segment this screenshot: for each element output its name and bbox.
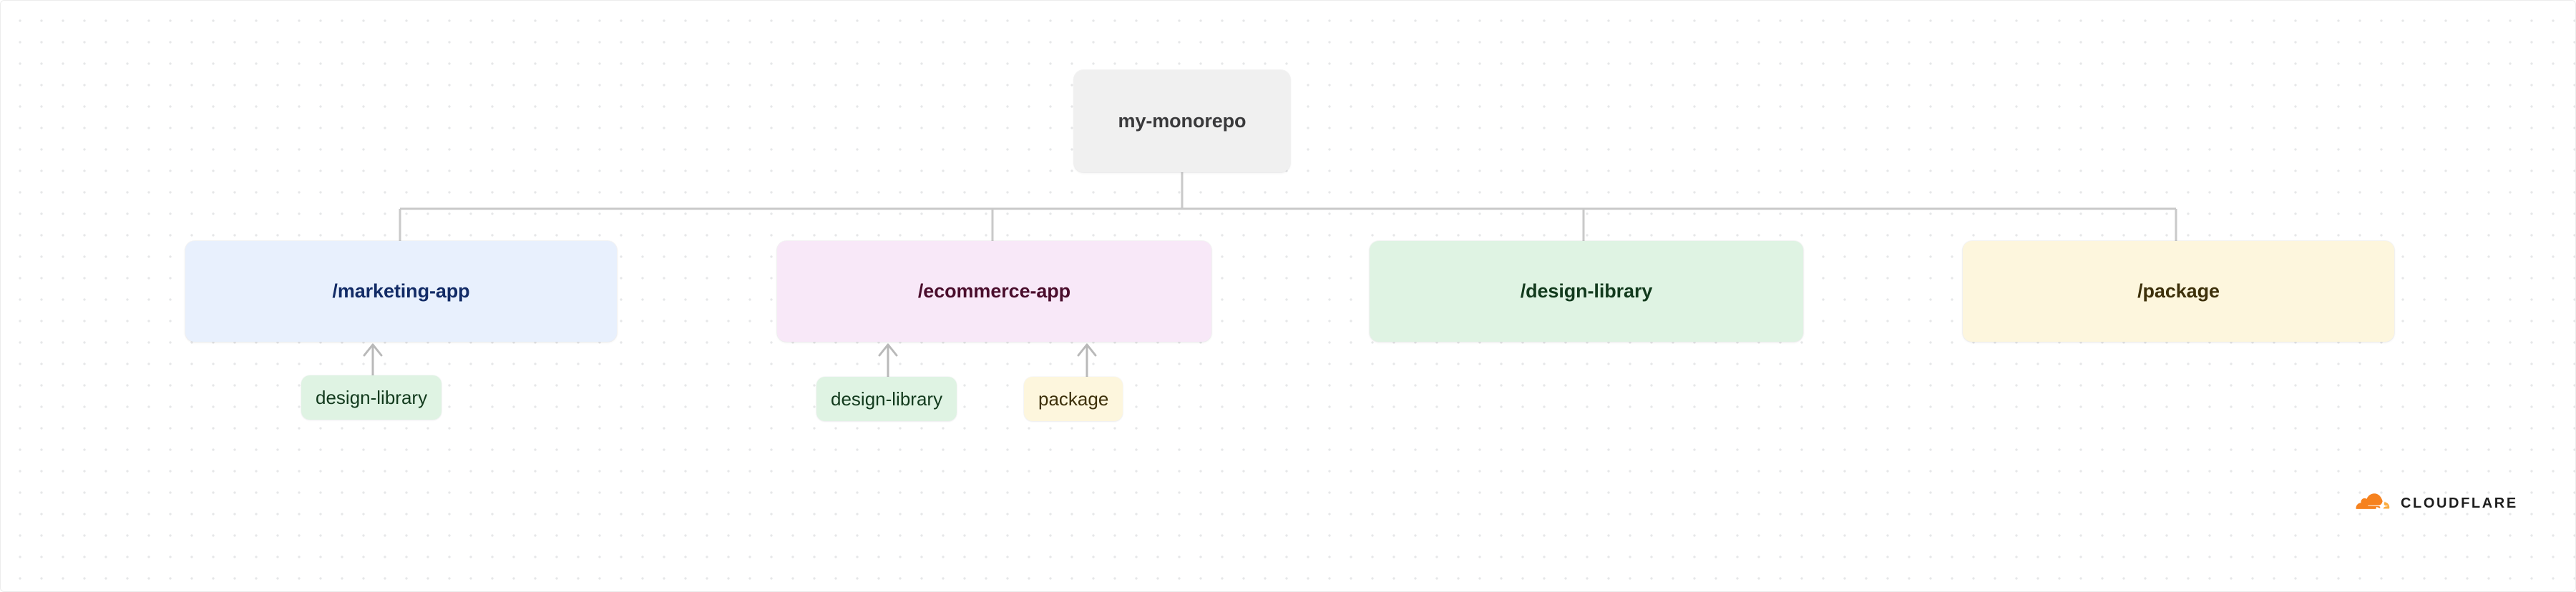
arrowhead-marketing-designlibrary bbox=[364, 345, 381, 355]
arrowhead-ecommerce-package bbox=[1078, 345, 1096, 355]
arrowhead-ecommerce-designlibrary bbox=[879, 345, 897, 355]
cloudflare-cloud-light-shape bbox=[2384, 501, 2390, 508]
node-package[interactable]: /package bbox=[1963, 241, 2394, 342]
dependency-chip-label: design-library bbox=[831, 388, 942, 410]
cloudflare-cloud-icon bbox=[2349, 493, 2394, 514]
dependency-chip-ecommerce-package[interactable]: package bbox=[1024, 377, 1123, 421]
dependency-chip-label: package bbox=[1038, 388, 1108, 410]
dependency-chip-ecommerce-design-library[interactable]: design-library bbox=[816, 377, 957, 421]
node-design-library[interactable]: /design-library bbox=[1370, 241, 1803, 342]
node-label-ecommerce-app: /ecommerce-app bbox=[918, 280, 1070, 302]
node-marketing-app[interactable]: /marketing-app bbox=[185, 241, 617, 342]
node-ecommerce-app[interactable]: /ecommerce-app bbox=[777, 241, 1211, 342]
cloudflare-logo: CLOUDFLARE bbox=[2349, 493, 2518, 514]
dependency-chip-marketing-design-library[interactable]: design-library bbox=[301, 375, 441, 420]
node-my-monorepo[interactable]: my-monorepo bbox=[1074, 70, 1290, 172]
node-label-design-library: /design-library bbox=[1521, 280, 1653, 302]
cloudflare-cloud-dark-shape bbox=[2356, 493, 2383, 509]
dependency-chip-label: design-library bbox=[316, 387, 427, 409]
node-label-marketing-app: /marketing-app bbox=[332, 280, 469, 302]
cloudflare-wordmark: CLOUDFLARE bbox=[2401, 495, 2518, 512]
node-label-package: /package bbox=[2137, 280, 2220, 302]
diagram-canvas: my-monorepo /marketing-app /ecommerce-ap… bbox=[0, 0, 2576, 592]
node-label-my-monorepo: my-monorepo bbox=[1118, 110, 1246, 132]
